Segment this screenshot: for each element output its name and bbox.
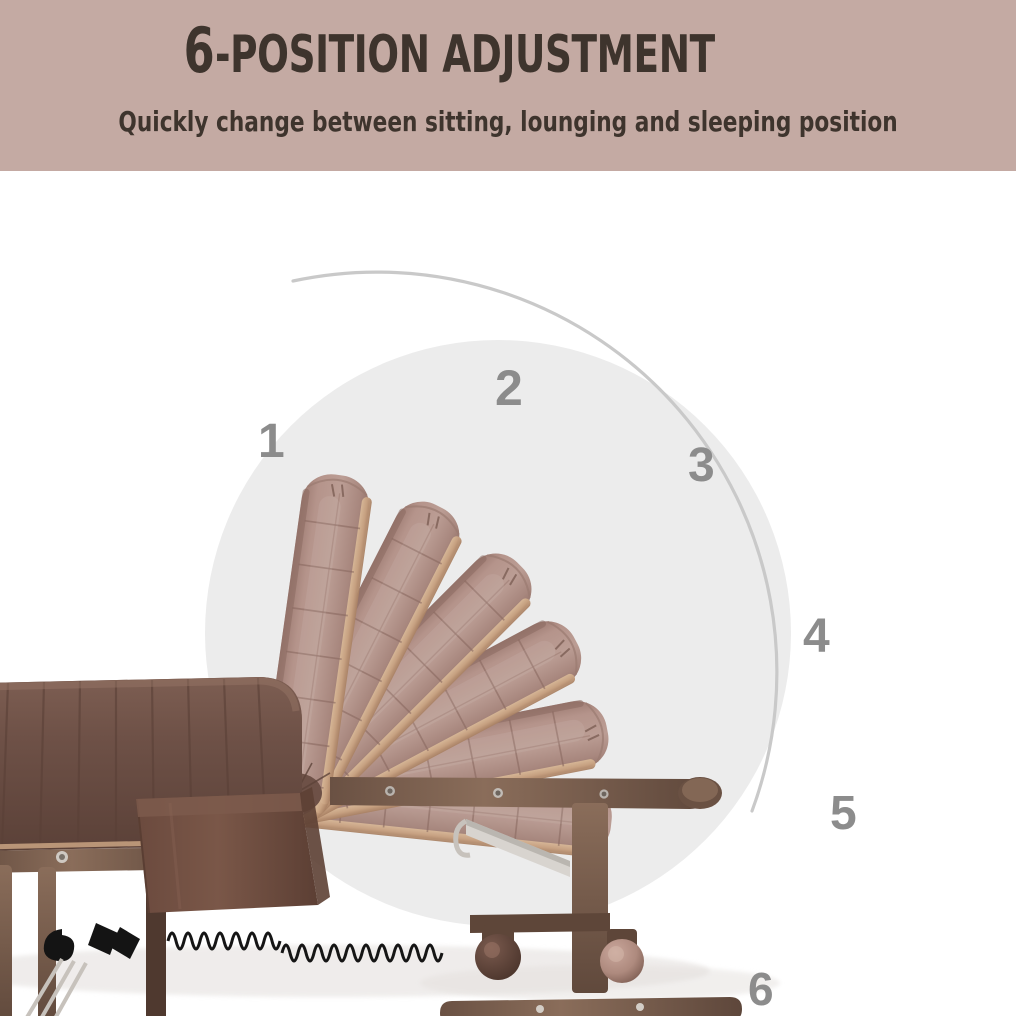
position-label-2: 2 — [495, 365, 523, 411]
title-rest-text: -POSITION ADJUSTMENT — [215, 24, 715, 86]
position-label-1: 1 — [258, 419, 285, 465]
header-banner: 6-POSITION ADJUSTMENT Quickly change bet… — [0, 0, 1016, 171]
page-title: 6-POSITION ADJUSTMENT — [0, 20, 1016, 86]
frame-leg-1 — [0, 865, 12, 1016]
lower-t-bar — [440, 997, 742, 1016]
position-label-4: 4 — [803, 614, 830, 660]
page-subtitle-text: Quickly change between sitting, lounging… — [118, 106, 897, 138]
caster-wheel-upper-left — [475, 925, 521, 980]
position-label-6: 6 — [748, 966, 774, 1012]
product-illustration-stage: 1 2 3 4 5 6 — [0, 171, 1016, 1016]
page-subtitle: Quickly change between sitting, lounging… — [0, 106, 1016, 138]
position-label-5: 5 — [830, 791, 857, 837]
product-illustration-svg — [0, 171, 1016, 1016]
title-leading-digit: 6 — [184, 20, 215, 82]
backrest-support-platform — [330, 777, 722, 809]
position-label-3: 3 — [688, 443, 715, 489]
fabric-side-pocket — [136, 787, 330, 913]
